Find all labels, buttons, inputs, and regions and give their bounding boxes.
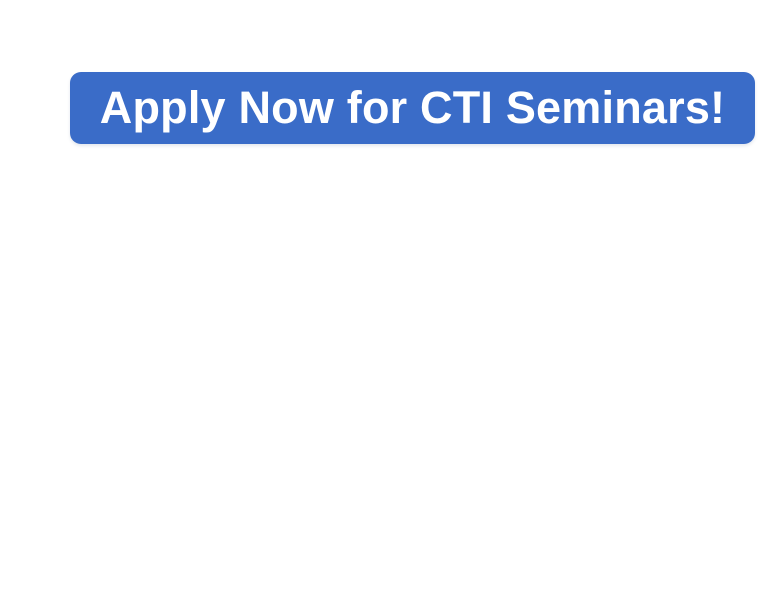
apply-now-cti-seminars-button[interactable]: Apply Now for CTI Seminars! [70,72,755,144]
apply-now-cti-seminars-button-label: Apply Now for CTI Seminars! [100,85,725,130]
page-canvas: Apply Now for CTI Seminars! [0,0,768,593]
